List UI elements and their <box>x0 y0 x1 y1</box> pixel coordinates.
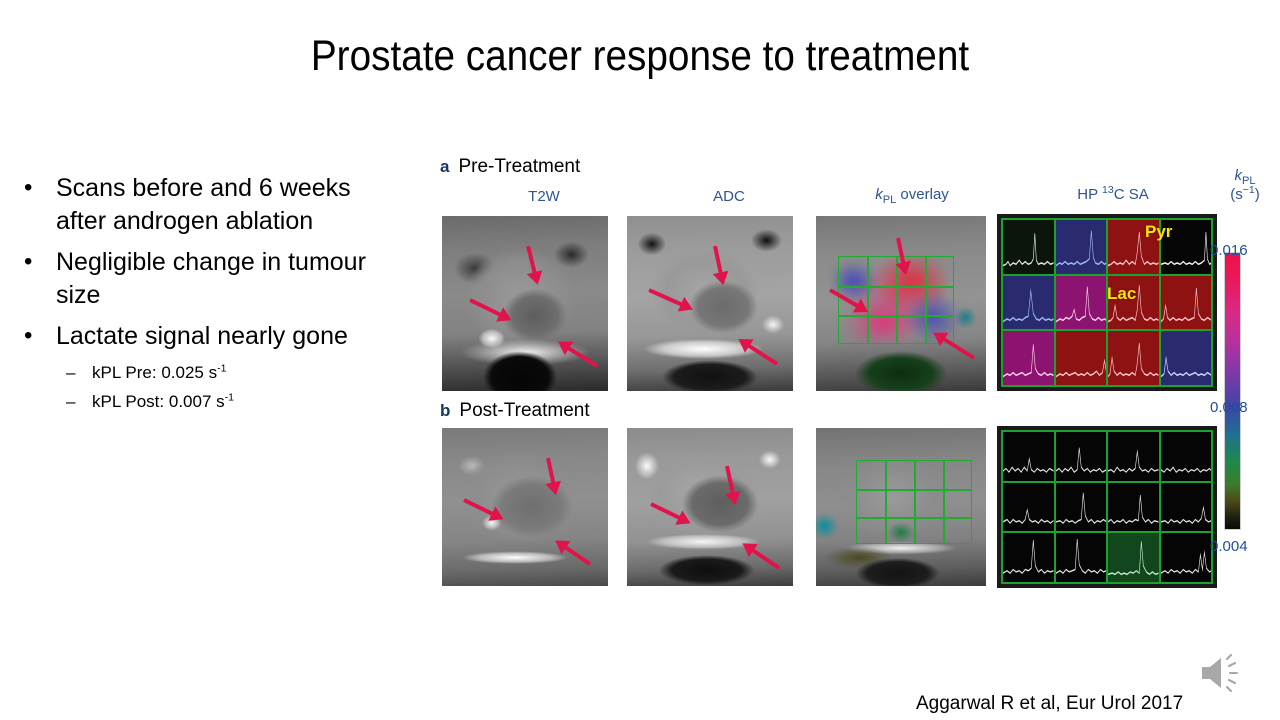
section-title-post: Post-Treatment <box>459 400 589 422</box>
spectrum-label-pyr: Pyr <box>1145 222 1172 242</box>
page-title: Prostate cancer response to treatment <box>64 32 1216 81</box>
list-item: • Lactate signal nearly gone <box>14 320 434 353</box>
kpl-overlay-rest: overlay <box>896 186 949 203</box>
column-label-t2w: T2W <box>494 188 594 205</box>
citation-text: Aggarwal R et al, Eur Urol 2017 <box>916 693 1183 715</box>
spectral-array-post <box>997 426 1217 588</box>
image-adc-pre <box>627 216 793 391</box>
bullet-marker: • <box>14 172 56 203</box>
spectrum-cell <box>1160 482 1213 533</box>
bullet-text: Negligible change in tumour size <box>56 246 401 312</box>
hp13c-pre: HP <box>1077 186 1102 203</box>
list-item: • Negligible change in tumour size <box>14 246 434 312</box>
spectrum-cell <box>1160 330 1213 386</box>
spectrum-cell <box>1055 532 1108 583</box>
image-t2w-pre <box>442 216 608 391</box>
spectrum-cell <box>1002 532 1055 583</box>
panel-letter-a: a <box>440 157 449 177</box>
spectrum-cell <box>1002 330 1055 386</box>
measurement-grid <box>856 460 972 544</box>
colorbar-gradient <box>1224 252 1241 530</box>
kpl-post-unit-exponent: -1 <box>225 391 234 403</box>
colorbar-legend: kPL (s−1) 0.016 0.008 0.004 <box>1206 158 1280 578</box>
section-title-pre: Pre-Treatment <box>458 156 580 178</box>
section-heading-post: b Post-Treatment <box>440 400 590 422</box>
sub-list-item: – kPL Pre: 0.025 s-1 <box>14 361 434 385</box>
kpl-pre-value: 0.025 <box>161 363 204 382</box>
kpl-overlay-k: k <box>875 186 883 203</box>
spectrum-cell <box>1055 431 1108 482</box>
colorbar-tick-mid: 0.008 <box>1210 399 1248 416</box>
sub-bullet-text: kPL Post: 0.007 s-1 <box>92 390 234 414</box>
colorbar-units-pre: (s <box>1230 186 1243 203</box>
spectrum-cell <box>1002 482 1055 533</box>
spectrum-cell <box>1160 431 1213 482</box>
spectral-array-pre: Pyr Lac <box>997 214 1217 391</box>
list-item: • Scans before and 6 weeks after androge… <box>14 172 434 238</box>
bullet-list: • Scans before and 6 weeks after androge… <box>14 172 434 419</box>
kpl-post-label: kPL Post: <box>92 392 164 411</box>
spectrum-cell <box>1055 219 1108 275</box>
spectrum-cell <box>1107 431 1160 482</box>
panel-letter-b: b <box>440 401 450 421</box>
slide-canvas: Prostate cancer response to treatment • … <box>0 0 1280 720</box>
kpl-post-value: 0.007 <box>169 392 212 411</box>
speaker-icon[interactable] <box>1196 653 1244 693</box>
section-heading-pre: a Pre-Treatment <box>440 156 580 178</box>
column-label-adc: ADC <box>679 188 779 205</box>
sub-bullet-text: kPL Pre: 0.025 s-1 <box>92 361 226 385</box>
spectra-grid <box>1001 430 1213 584</box>
hp13c-rest: C SA <box>1114 186 1149 203</box>
spectrum-cell <box>1160 532 1213 583</box>
column-label-hp13c: HP 13C SA <box>1033 186 1193 203</box>
image-adc-post <box>627 428 793 586</box>
colorbar-units-exponent: −1 <box>1243 184 1255 196</box>
hp13c-superscript: 13 <box>1102 184 1114 196</box>
image-kpl-overlay-post <box>816 428 986 586</box>
spectrum-cell <box>1055 330 1108 386</box>
spectrum-cell <box>1055 275 1108 331</box>
spectrum-cell <box>1002 275 1055 331</box>
figure-panel: a Pre-Treatment T2W ADC kPL overlay HP 1… <box>436 150 1280 610</box>
spectrum-cell <box>1107 330 1160 386</box>
kpl-post-unit: s <box>216 392 225 411</box>
kpl-pre-unit: s <box>209 363 218 382</box>
sub-list-item: – kPL Post: 0.007 s-1 <box>14 390 434 414</box>
column-label-kpl-overlay: kPL overlay <box>832 186 992 203</box>
spectrum-label-lac: Lac <box>1107 284 1136 304</box>
colorbar-tick-max: 0.016 <box>1210 242 1248 259</box>
kpl-pre-label: kPL Pre: <box>92 363 157 382</box>
sub-bullet-marker: – <box>66 390 92 414</box>
kpl-overlay-sub: PL <box>883 194 897 206</box>
spectrum-cell <box>1002 219 1055 275</box>
image-t2w-post <box>442 428 608 586</box>
spectrum-cell <box>1002 431 1055 482</box>
spectrum-cell <box>1107 532 1160 583</box>
bullet-marker: • <box>14 320 56 351</box>
spectrum-cell <box>1160 275 1213 331</box>
colorbar-title: kPL (s−1) <box>1214 166 1276 204</box>
sub-bullet-marker: – <box>66 361 92 385</box>
colorbar-tick-min: 0.004 <box>1210 538 1248 555</box>
colorbar-units-post: ) <box>1255 186 1260 203</box>
kpl-pre-unit-exponent: -1 <box>217 362 226 374</box>
spectrum-cell <box>1107 482 1160 533</box>
image-kpl-overlay-pre <box>816 216 986 391</box>
bullet-text: Lactate signal nearly gone <box>56 320 348 353</box>
bullet-text: Scans before and 6 weeks after androgen … <box>56 172 401 238</box>
colorbar-title-k: k <box>1234 167 1242 184</box>
spectrum-cell <box>1055 482 1108 533</box>
bullet-marker: • <box>14 246 56 277</box>
